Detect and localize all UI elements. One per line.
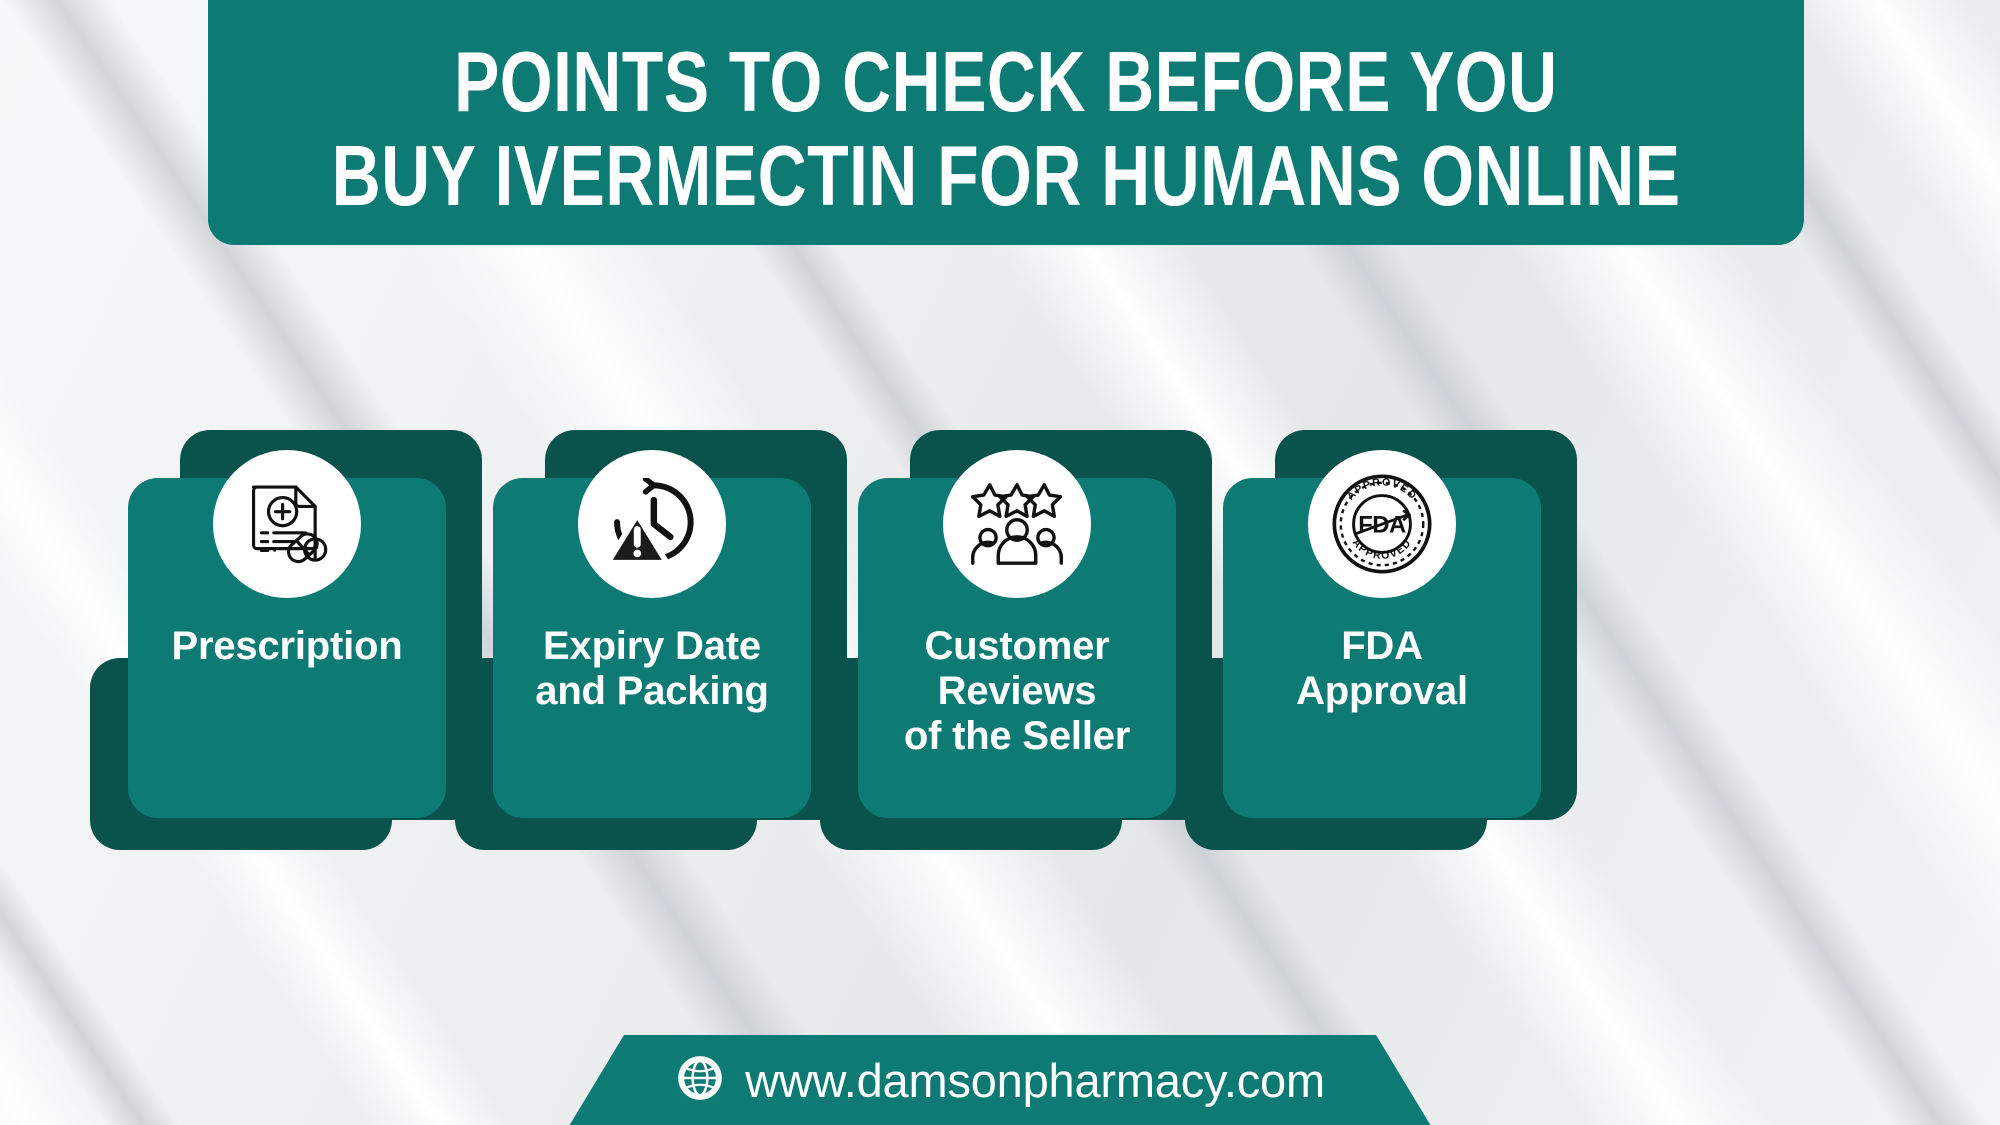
- card-face[interactable]: APPROVED APPROVED FDA FDA Approval: [1223, 478, 1541, 818]
- fda-arc-bottom: APPROVED: [1350, 537, 1414, 562]
- icon-bubble: [943, 450, 1091, 598]
- cards-row: Prescription Expiry Date and Pac: [0, 430, 2000, 850]
- page-title-line-2: BUY IVERMECTIN FOR HUMANS ONLINE: [332, 134, 1681, 221]
- card-label: Customer Reviews of the Seller: [894, 624, 1140, 758]
- svg-text:APPROVED: APPROVED: [1345, 476, 1420, 502]
- clock-warning-icon: [606, 478, 698, 570]
- globe-icon: [675, 1053, 725, 1108]
- header-banner: POINTS TO CHECK BEFORE YOU BUY IVERMECTI…: [208, 0, 1804, 245]
- svg-text:APPROVED: APPROVED: [1350, 537, 1414, 562]
- card-fda-approval[interactable]: APPROVED APPROVED FDA FDA Approval: [1185, 430, 1577, 850]
- card-prescription[interactable]: Prescription: [90, 430, 482, 850]
- card-customer-reviews[interactable]: Customer Reviews of the Seller: [820, 430, 1212, 850]
- stars-people-reviews-icon: [971, 482, 1063, 566]
- card-face[interactable]: Customer Reviews of the Seller: [858, 478, 1176, 818]
- page-title-line-1: POINTS TO CHECK BEFORE YOU: [454, 40, 1558, 127]
- card-face[interactable]: Prescription: [128, 478, 446, 818]
- icon-bubble: [578, 450, 726, 598]
- card-expiry-packing[interactable]: Expiry Date and Packing: [455, 430, 847, 850]
- card-label: Expiry Date and Packing: [525, 624, 778, 714]
- icon-bubble: APPROVED APPROVED FDA: [1308, 450, 1456, 598]
- fda-arc-top: APPROVED: [1345, 476, 1420, 502]
- card-face[interactable]: Expiry Date and Packing: [493, 478, 811, 818]
- fda-approved-seal-icon: APPROVED APPROVED FDA: [1327, 469, 1437, 579]
- card-label: Prescription: [162, 624, 413, 669]
- footer-ribbon: www.damsonpharmacy.com: [566, 1035, 1434, 1125]
- card-label: FDA Approval: [1286, 624, 1478, 714]
- icon-bubble: [213, 450, 361, 598]
- prescription-document-icon: [243, 480, 331, 568]
- footer-url[interactable]: www.damsonpharmacy.com: [745, 1053, 1325, 1108]
